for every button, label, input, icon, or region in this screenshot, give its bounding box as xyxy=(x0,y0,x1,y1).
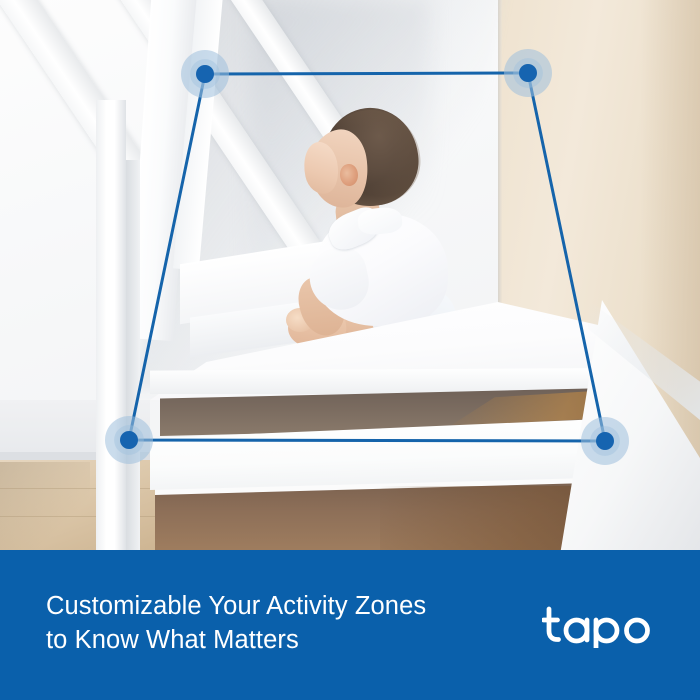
activity-zone-polygon[interactable] xyxy=(129,73,605,441)
activity-zone-handles[interactable] xyxy=(105,49,629,465)
banner-headline: Customizable Your Activity Zones to Know… xyxy=(46,590,426,660)
bottom-banner: Customizable Your Activity Zones to Know… xyxy=(0,550,700,700)
activity-zone-overlay[interactable] xyxy=(0,0,700,552)
screenshot-root: Customizable Your Activity Zones to Know… xyxy=(0,0,700,700)
scene-photo xyxy=(0,0,700,552)
tapo-logo xyxy=(542,602,652,648)
zone-handle-top-left[interactable] xyxy=(196,65,214,83)
zone-handle-bottom-right[interactable] xyxy=(596,432,614,450)
zone-handle-bottom-left[interactable] xyxy=(120,431,138,449)
zone-handle-top-right[interactable] xyxy=(519,64,537,82)
